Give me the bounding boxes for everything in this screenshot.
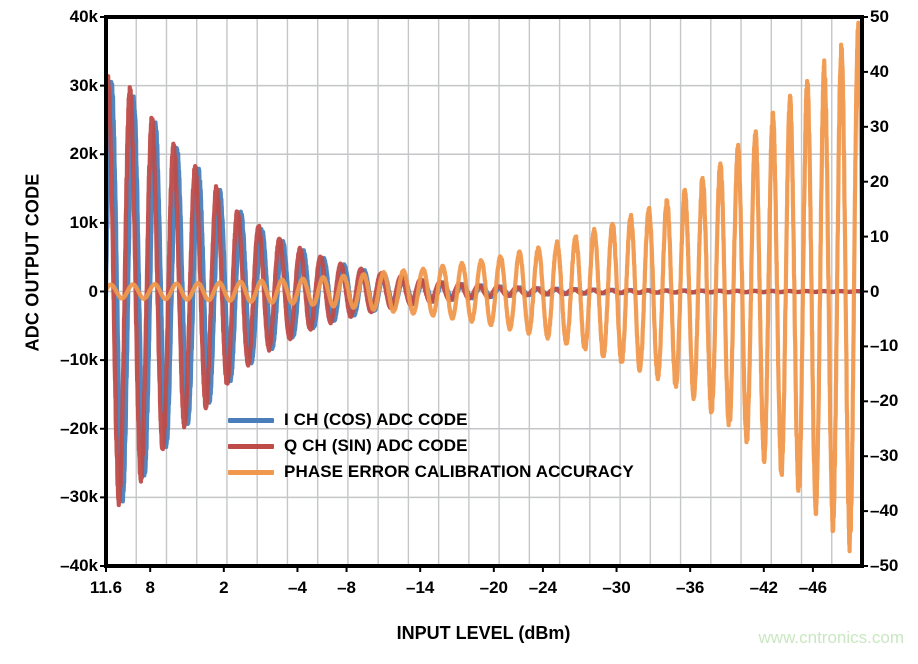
chart-page: ADC OUTPUT CODE INPUT LEVEL (dBm) 40k30k… <box>0 0 918 664</box>
legend-swatch-phase-error <box>228 470 274 475</box>
x-tick-2: 2 <box>219 578 228 598</box>
legend-swatch-i-channel <box>228 418 274 423</box>
chart-legend: I CH (COS) ADC CODE Q CH (SIN) ADC CODE … <box>228 408 634 484</box>
watermark: www.cntronics.com <box>759 628 904 648</box>
x-tick-8: –30 <box>602 578 630 598</box>
x-tick-3: –4 <box>288 578 307 598</box>
x-tick-6: –20 <box>480 578 508 598</box>
x-tick-10: –42 <box>750 578 778 598</box>
x-axis-tick-labels: 11.682–4–8–14–20–24–30–36–42–46 <box>0 0 918 664</box>
legend-item-phase-error: PHASE ERROR CALIBRATION ACCURACY <box>228 460 634 484</box>
x-tick-9: –36 <box>676 578 704 598</box>
legend-item-i-channel: I CH (COS) ADC CODE <box>228 408 634 432</box>
legend-item-q-channel: Q CH (SIN) ADC CODE <box>228 434 634 458</box>
legend-label-phase-error: PHASE ERROR CALIBRATION ACCURACY <box>284 462 634 482</box>
x-tick-1: 8 <box>145 578 154 598</box>
legend-label-i-channel: I CH (COS) ADC CODE <box>284 410 468 430</box>
x-tick-5: –14 <box>406 578 434 598</box>
x-tick-7: –24 <box>529 578 557 598</box>
legend-label-q-channel: Q CH (SIN) ADC CODE <box>284 436 468 456</box>
legend-swatch-q-channel <box>228 444 274 449</box>
x-tick-0: 11.6 <box>90 578 122 598</box>
x-tick-11: –46 <box>799 578 827 598</box>
x-tick-4: –8 <box>337 578 356 598</box>
